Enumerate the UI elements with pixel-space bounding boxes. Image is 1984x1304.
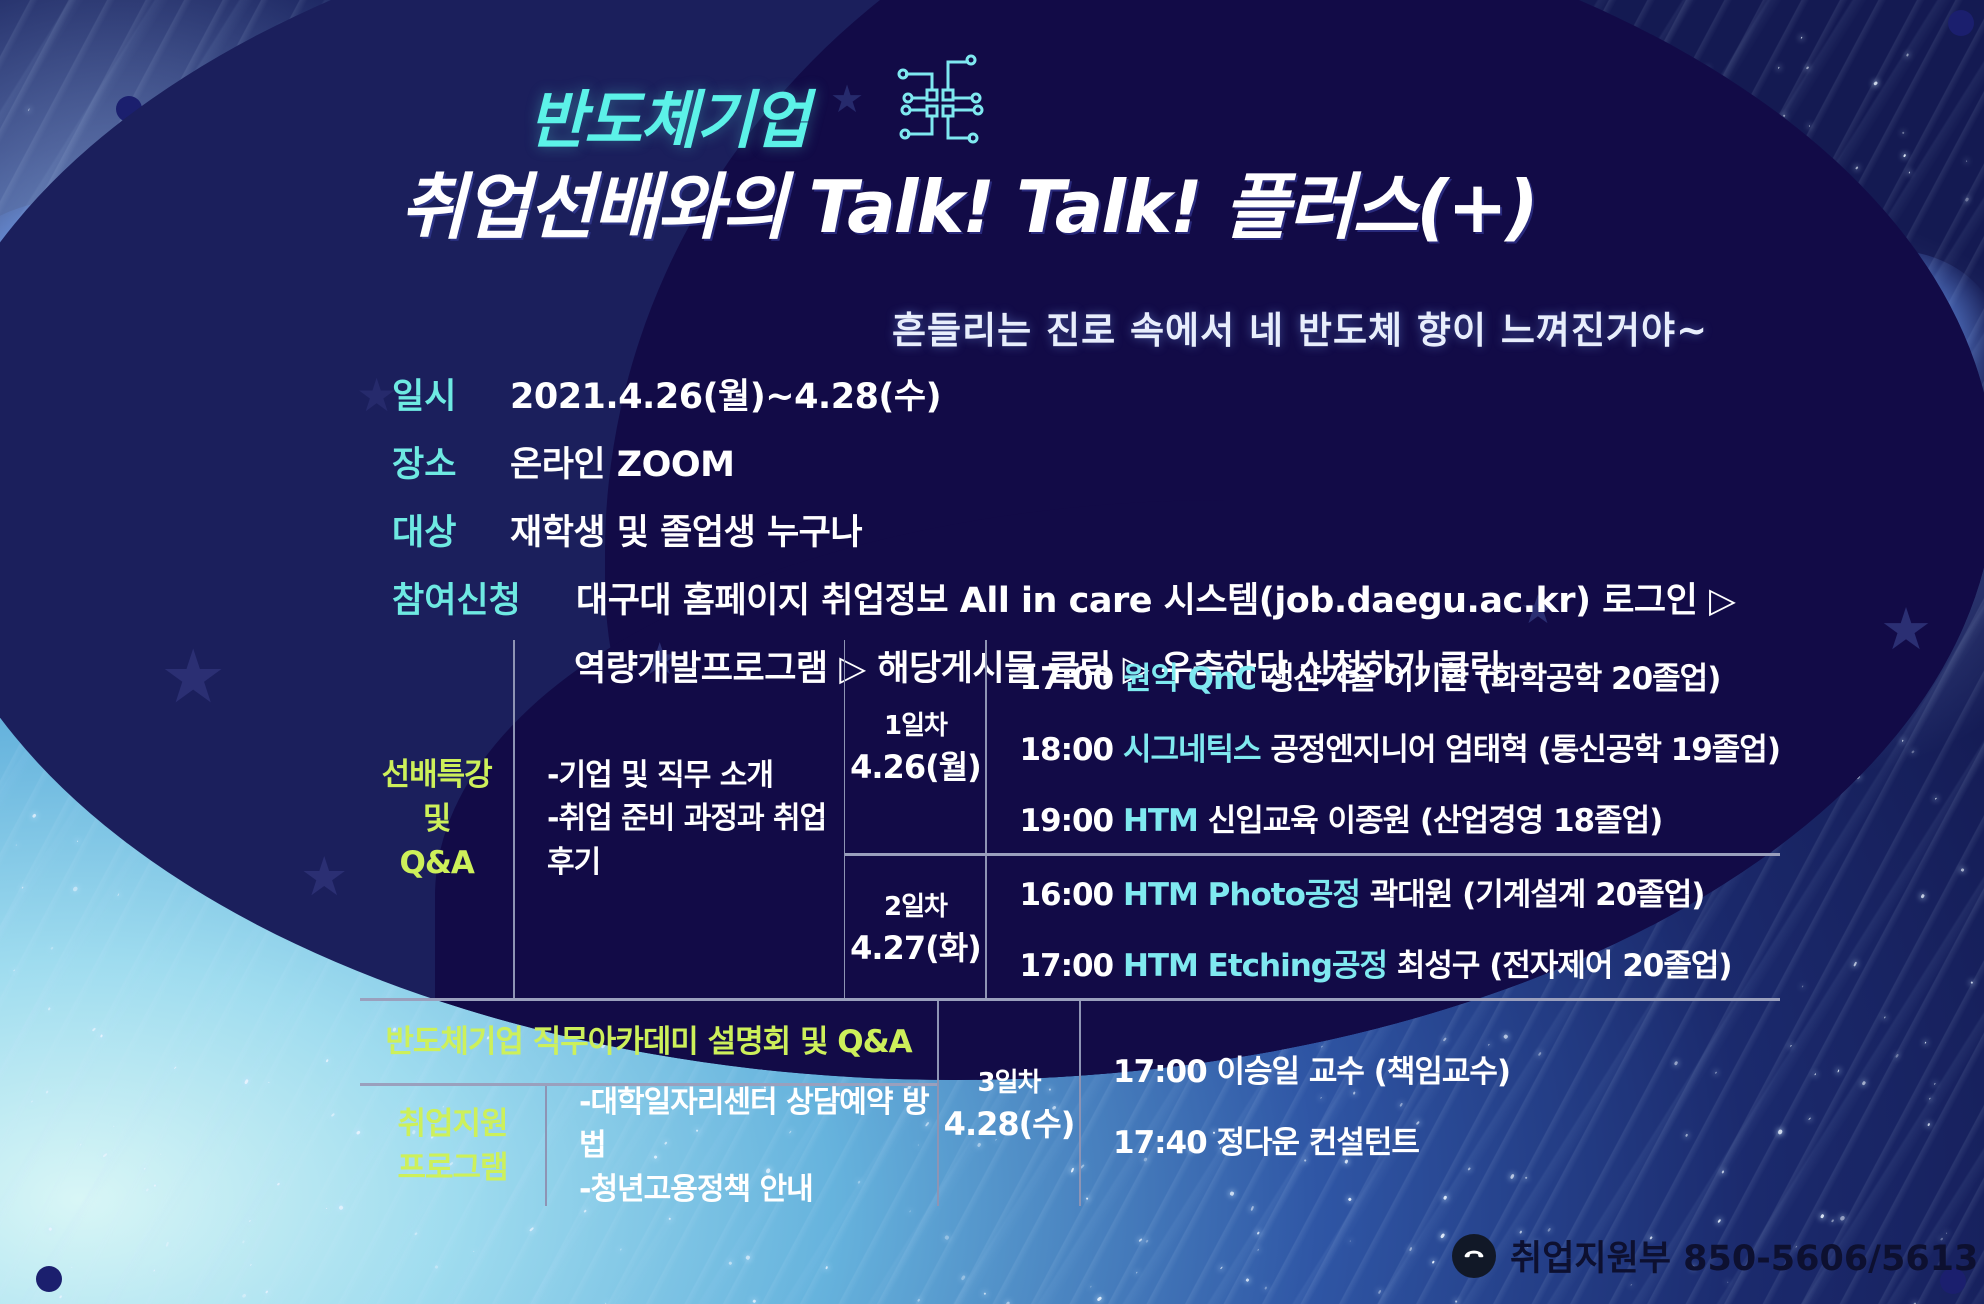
info-row-place: 장소 온라인 ZOOM [392,436,1792,487]
sessions-cell-1: 17:00 원익 QnC 생산기술 이기환 (화학공학 20졸업) 18:00 … [987,640,1780,853]
category-line-3: Q&A [399,841,473,885]
schedule-table: 선배특강 및 Q&A -기업 및 직무 소개 -취업 준비 과정과 취업 후기 … [360,640,1780,1206]
support-desc-line-1: -대학일자리센터 상담예약 방법 [579,1081,937,1168]
session-item: 17:00 이승일 교수 (책임교수) [1113,1046,1780,1091]
day-row-1: 1일차 4.26(월) 17:00 원익 QnC 생산기술 이기환 (화학공학 … [845,640,1780,853]
session-detail: 생산기술 이기환 (화학공학 20졸업) [1266,661,1721,697]
session-item: 19:00 HTM 신입교육 이종원 (산업경영 18졸업) [1019,795,1780,840]
info-label-apply: 참여신청 [392,572,570,623]
session-detail: 이승일 교수 (책임교수) [1216,1054,1510,1090]
session-item: 16:00 HTM Photo공정 곽대원 (기계설계 20졸업) [1019,869,1780,914]
session-org: 시그네틱스 [1123,732,1261,768]
session-time: 18:00 [1019,732,1113,768]
info-label-target: 대상 [392,504,504,555]
info-value-place: 온라인 ZOOM [510,436,735,487]
main-title: 취업선배와의 Talk! Talk! 플러스(+) [400,148,1537,253]
academy-row: 반도체기업 직무아카데미 설명회 및 Q&A [360,1001,937,1083]
session-org: HTM [1123,803,1198,839]
category-cell-lecture: 선배특강 및 Q&A [360,640,513,998]
category-line-2: 및 [423,797,451,841]
session-time: 17:00 [1019,948,1113,984]
session-item: 18:00 시그네틱스 공정엔지니어 엄태혁 (통신공학 19졸업) [1019,724,1780,769]
session-detail: 공정엔지니어 엄태혁 (통신공학 19졸업) [1270,732,1780,768]
session-time: 19:00 [1019,803,1113,839]
day-number-2: 2일차 [884,886,947,923]
footer-contact: 취업지원부 850-5606/5613 [1452,1230,1978,1281]
info-value-date: 2021.4.26(월)~4.28(수) [510,368,941,419]
desc-line-1: -기업 및 직무 소개 [547,754,844,798]
session-org: HTM Etching공정 [1123,948,1387,984]
info-label-date: 일시 [392,368,504,419]
info-row-date: 일시 2021.4.26(월)~4.28(수) [392,368,1792,419]
category-line-1: 선배특강 [382,753,492,797]
session-item: 17:00 원익 QnC 생산기술 이기환 (화학공학 20졸업) [1019,653,1780,698]
day-number-3: 3일차 [978,1062,1041,1099]
sessions-cell-2: 16:00 HTM Photo공정 곽대원 (기계설계 20졸업) 17:00 … [987,856,1780,998]
day-date-3: 4.28(수) [944,1099,1075,1145]
description-cell-support: -대학일자리센터 상담예약 방법 -청년고용정책 안내 [547,1086,937,1206]
category-academy-label: 반도체기업 직무아카데미 설명회 및 Q&A [385,1020,911,1064]
info-value-apply: 대구대 홈페이지 취업정보 All in care 시스템(job.daegu.… [576,572,1735,623]
sessions-cell-3: 17:00 이승일 교수 (책임교수) 17:40 정다운 컨설턴트 [1081,1001,1780,1206]
footer-text: 취업지원부 850-5606/5613 [1510,1230,1978,1281]
info-label-place: 장소 [392,436,504,487]
subtitle: 흔들리는 진로 속에서 네 반도체 향이 느껴진거야~ [892,300,1708,354]
phone-icon [1452,1234,1496,1278]
session-item: 17:40 정다운 컨설턴트 [1113,1117,1780,1162]
category-cell-support: 취업지원 프로그램 [360,1086,545,1206]
info-row-target: 대상 재학생 및 졸업생 누구나 [392,504,1792,555]
session-item: 17:00 HTM Etching공정 최성구 (전자제어 20졸업) [1019,940,1780,985]
day-row-2: 2일차 4.27(화) 16:00 HTM Photo공정 곽대원 (기계설계 … [845,856,1780,998]
poster-content: 반도체기업 [0,0,1984,1304]
day-date-2: 4.27(화) [850,923,981,969]
circuit-chip-icon [885,48,995,158]
table-row: 반도체기업 직무아카데미 설명회 및 Q&A 취업지원 프로그램 -대학일자리센… [360,1001,1780,1206]
day-date-1: 4.26(월) [850,742,981,788]
support-row: 취업지원 프로그램 -대학일자리센터 상담예약 방법 -청년고용정책 안내 [360,1086,937,1206]
session-org: HTM Photo공정 [1123,877,1360,913]
session-detail: 정다운 컨설턴트 [1216,1125,1418,1161]
session-detail: 신입교육 이종원 (산업경영 18졸업) [1208,803,1663,839]
session-time: 17:00 [1113,1054,1207,1090]
info-row-apply: 참여신청 대구대 홈페이지 취업정보 All in care 시스템(job.d… [392,572,1792,623]
session-org: 원익 QnC [1123,661,1256,697]
session-detail: 최성구 (전자제어 20졸업) [1397,948,1732,984]
day-cell-2: 2일차 4.27(화) [845,856,985,998]
session-detail: 곽대원 (기계설계 20졸업) [1370,877,1705,913]
desc-line-2: -취업 준비 과정과 취업 후기 [547,797,844,884]
day-cell-1: 1일차 4.26(월) [845,640,985,853]
poster-root: ★ ★ ★ ★ ★ ★ ★ 반도체기업 [0,0,1984,1304]
session-time: 17:40 [1113,1125,1207,1161]
description-cell-lecture: -기업 및 직무 소개 -취업 준비 과정과 취업 후기 [515,640,844,998]
info-value-target: 재학생 및 졸업생 누구나 [510,504,862,555]
day-number-1: 1일차 [884,705,947,742]
category-support-line-2: 프로그램 [397,1146,507,1190]
session-time: 17:00 [1019,661,1113,697]
category-support-line-1: 취업지원 [397,1102,507,1146]
category-cell-academy: 반도체기업 직무아카데미 설명회 및 Q&A [360,1001,937,1083]
support-desc-line-2: -청년고용정책 안내 [579,1168,937,1212]
table-row: 선배특강 및 Q&A -기업 및 직무 소개 -취업 준비 과정과 취업 후기 … [360,640,1780,998]
day-cell-3: 3일차 4.28(수) [939,1001,1079,1206]
session-time: 16:00 [1019,877,1113,913]
